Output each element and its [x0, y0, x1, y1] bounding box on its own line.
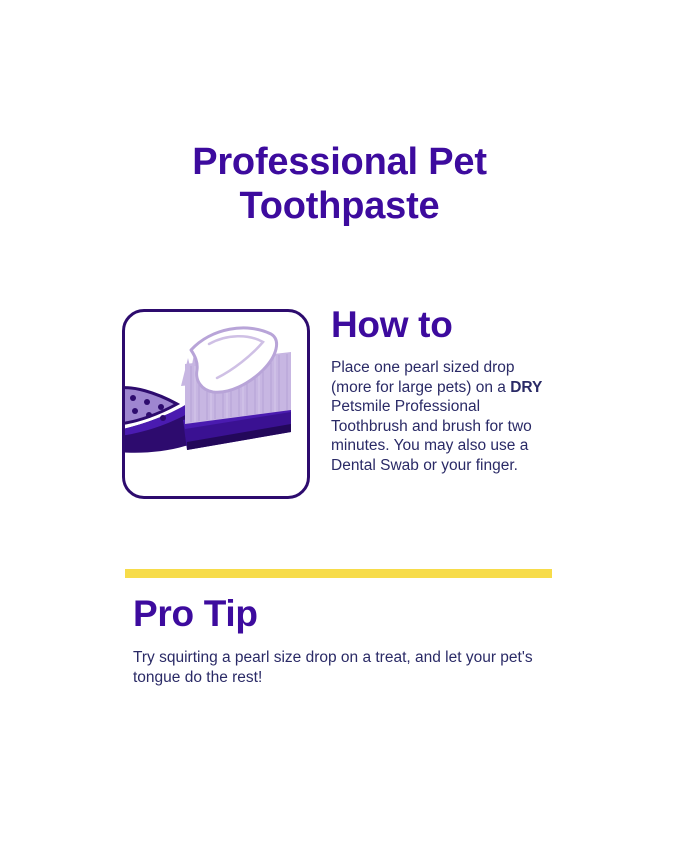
page-title-line-1: Professional Pet	[192, 141, 487, 183]
pro-tip-heading: Pro Tip	[133, 592, 563, 636]
toothbrush-with-toothpaste-icon	[125, 312, 307, 496]
how-to-body-part-1: Place one pearl sized drop (more for lar…	[331, 359, 515, 396]
how-to-body: Place one pearl sized drop (more for lar…	[331, 358, 559, 475]
product-instructions-page: Professional Pet Toothpaste	[0, 0, 679, 868]
section-divider	[125, 569, 552, 578]
how-to-body-emphasis: DRY	[510, 379, 542, 396]
how-to-text-block: How to Place one pearl sized drop (more …	[331, 304, 563, 475]
how-to-heading: How to	[331, 304, 563, 346]
how-to-body-part-2: Petsmile Professional Toothbrush and bru…	[331, 398, 532, 474]
pro-tip-body: Try squirting a pearl size drop on a tre…	[133, 648, 553, 688]
pro-tip-section: Pro Tip Try squirting a pearl size drop …	[133, 592, 563, 688]
page-title-line-2: Toothpaste	[0, 184, 679, 228]
page-title: Professional Pet Toothpaste	[0, 140, 679, 228]
toothbrush-icon-box	[122, 309, 310, 499]
